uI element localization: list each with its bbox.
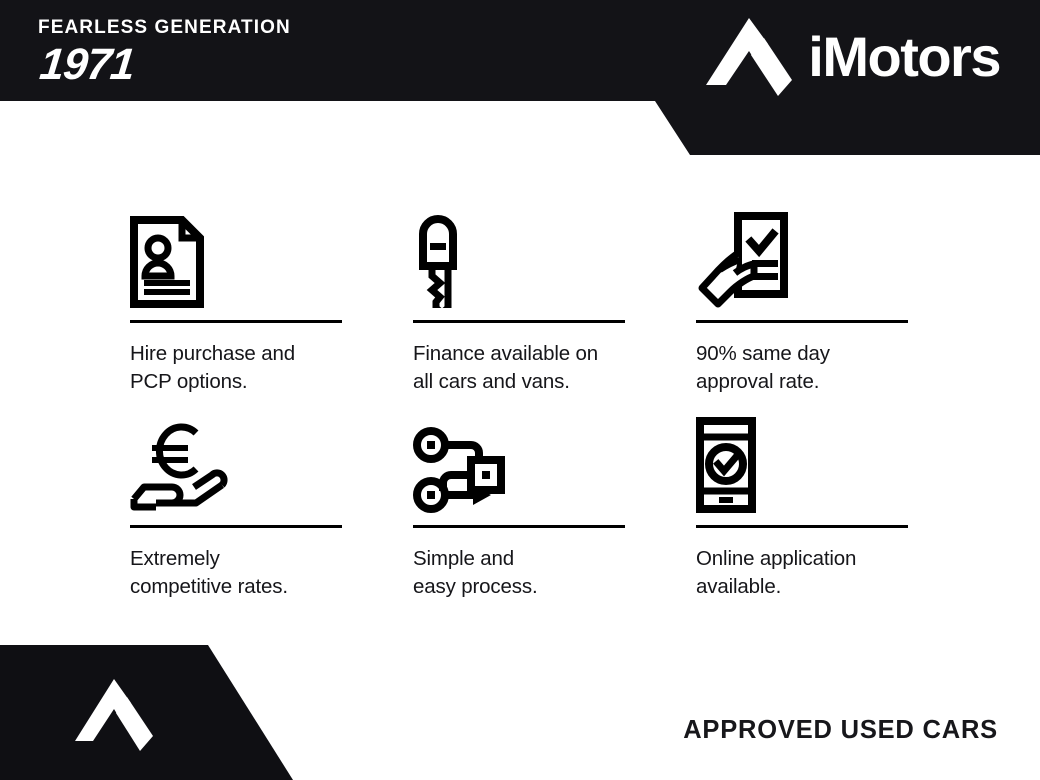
feature-card-3: 90% same day approval rate. xyxy=(696,190,920,395)
feature-card-2: Finance available on all cars and vans. xyxy=(413,190,696,395)
hand-holding-checklist-icon xyxy=(696,190,920,308)
euro-in-hand-icon xyxy=(130,395,413,513)
imotors-chevron-logo-icon-footer xyxy=(75,679,153,751)
feature-text-4: Extremely competitive rates. xyxy=(130,545,413,600)
feature-card-5: Simple and easy process. xyxy=(413,395,696,600)
feature-card-6: Online application available. xyxy=(696,395,920,600)
header-year: 1971 xyxy=(38,43,137,87)
feature-grid: Hire purchase and PCP options. Finance a… xyxy=(130,190,920,600)
feature-card-4: Extremely competitive rates. xyxy=(130,395,413,600)
fearless-generation-block: FEARLESS GENERATION 1971 xyxy=(38,18,291,87)
imotors-chevron-logo-icon xyxy=(706,18,792,96)
brand-lockup[interactable]: iMotors xyxy=(706,18,1000,96)
feature-text-5: Simple and easy process. xyxy=(413,545,696,600)
divider-rule xyxy=(413,320,625,323)
process-flow-icon xyxy=(413,395,696,513)
divider-rule xyxy=(696,320,908,323)
footer-tagline: APPROVED USED CARS xyxy=(683,716,998,745)
feature-text-6: Online application available. xyxy=(696,545,920,600)
feature-card-1: Hire purchase and PCP options. xyxy=(130,190,413,395)
divider-rule xyxy=(413,525,625,528)
brand-name: iMotors xyxy=(808,29,1000,85)
feature-text-2: Finance available on all cars and vans. xyxy=(413,340,696,395)
car-key-icon xyxy=(413,190,696,308)
divider-rule xyxy=(696,525,908,528)
divider-rule xyxy=(130,525,342,528)
id-document-icon xyxy=(130,190,413,308)
divider-rule xyxy=(130,320,342,323)
smartphone-approved-icon xyxy=(696,395,920,513)
header-tagline: FEARLESS GENERATION xyxy=(38,18,291,37)
poster-canvas: FEARLESS GENERATION 1971 iMotors xyxy=(0,0,1040,780)
feature-text-1: Hire purchase and PCP options. xyxy=(130,340,413,395)
feature-text-3: 90% same day approval rate. xyxy=(696,340,920,395)
